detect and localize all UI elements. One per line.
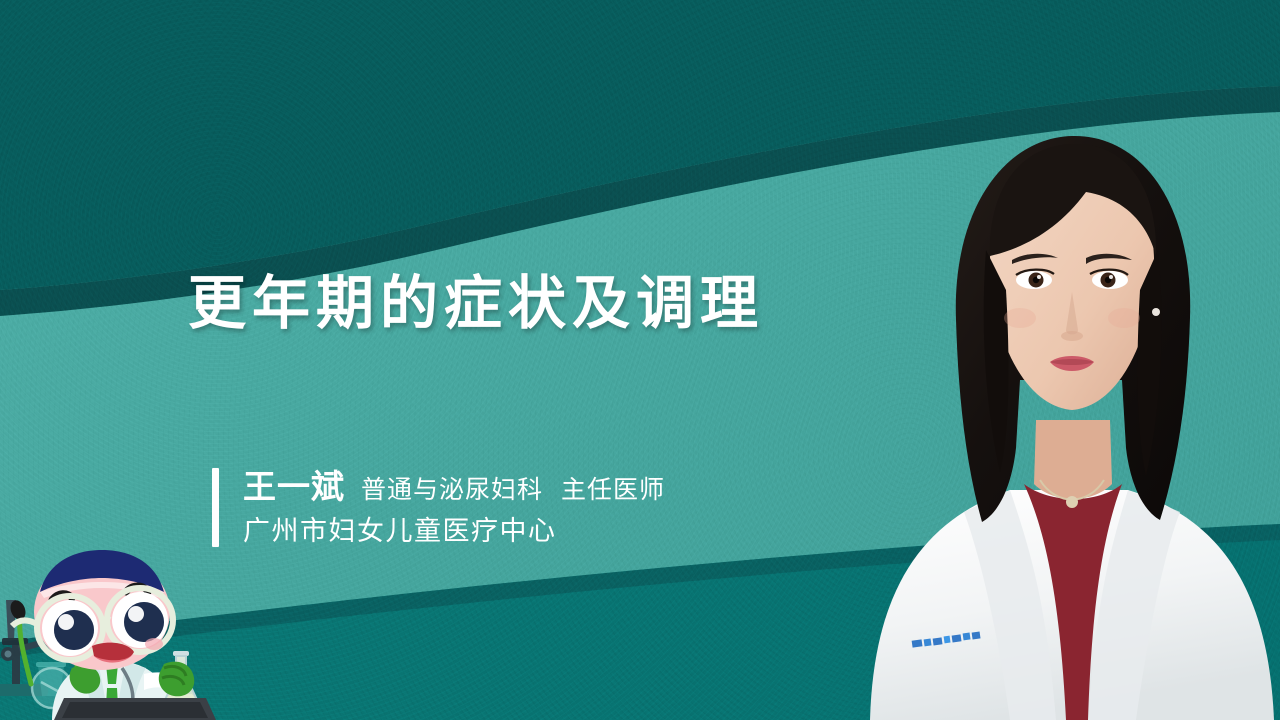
doctor-department: 普通与泌尿妇科 bbox=[361, 476, 543, 505]
laptop bbox=[54, 698, 216, 720]
presentation-slide: 更年期的症状及调理 王一斌 普通与泌尿妇科 主任医师 广州市妇女儿童医疗中心 bbox=[0, 0, 1280, 720]
doctor-name: 王一斌 bbox=[243, 468, 345, 506]
slide-title: 更年期的症状及调理 bbox=[188, 274, 764, 332]
doctor-portrait-photo bbox=[860, 80, 1280, 720]
presenter-block: 王一斌 普通与泌尿妇科 主任医师 广州市妇女儿童医疗中心 bbox=[212, 468, 665, 547]
doctor-rank: 主任医师 bbox=[561, 476, 665, 505]
mascot-illustration bbox=[0, 488, 226, 720]
presenter-text: 王一斌 普通与泌尿妇科 主任医师 广州市妇女儿童医疗中心 bbox=[243, 468, 665, 547]
presenter-line-1: 王一斌 普通与泌尿妇科 主任医师 bbox=[243, 468, 665, 506]
hospital-name: 广州市妇女儿童医疗中心 bbox=[243, 515, 665, 547]
